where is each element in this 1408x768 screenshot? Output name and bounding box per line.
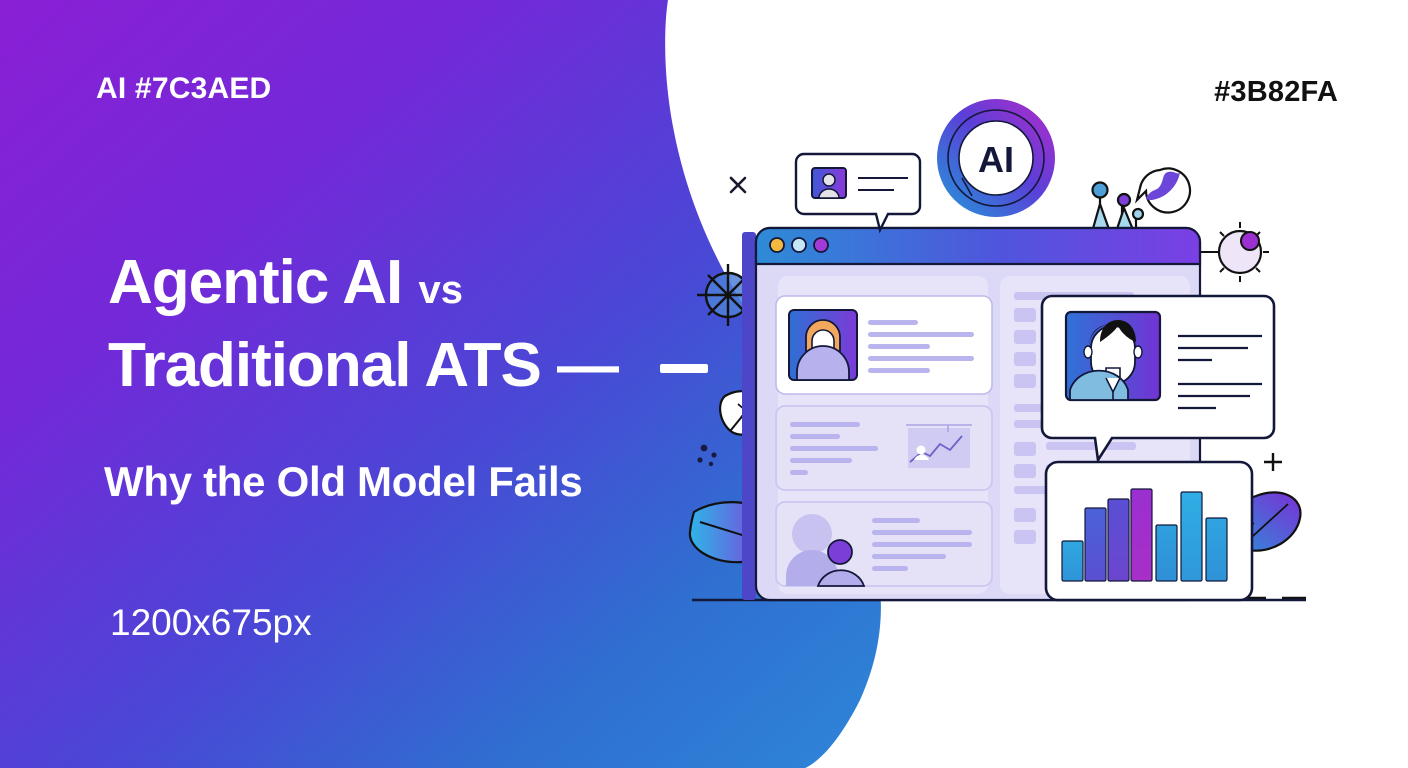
- dot-purple-icon: [814, 238, 828, 252]
- white-dash-icon: [660, 364, 708, 373]
- mini-chart-thumbnail: [906, 425, 972, 468]
- poster-canvas: AI #7C3AED #3B82FA Agentic AI vs Traditi…: [0, 0, 1408, 768]
- candidate-card-female[interactable]: [776, 296, 992, 394]
- illustration: AI: [0, 0, 1408, 768]
- ai-badge-label: AI: [978, 139, 1014, 180]
- dot-cluster-icon: [697, 445, 716, 467]
- antenna-sprout-icon: [1092, 183, 1143, 233]
- info-panel-avatar[interactable]: [776, 502, 992, 586]
- notification-bubble[interactable]: [796, 154, 920, 230]
- sparkle-x-icon: [731, 178, 745, 192]
- globe-bubble-icon: [1137, 168, 1190, 212]
- planet-circle-icon: [1197, 222, 1269, 282]
- ai-badge[interactable]: AI: [948, 110, 1044, 206]
- info-panel-chart[interactable]: [776, 406, 992, 490]
- profile-card-male[interactable]: [1042, 296, 1274, 460]
- dot-cyan-icon: [792, 238, 806, 252]
- bar-chart-card[interactable]: [1046, 462, 1252, 600]
- plus-mark-icon: [1264, 453, 1282, 471]
- dot-yellow-icon: [770, 238, 784, 252]
